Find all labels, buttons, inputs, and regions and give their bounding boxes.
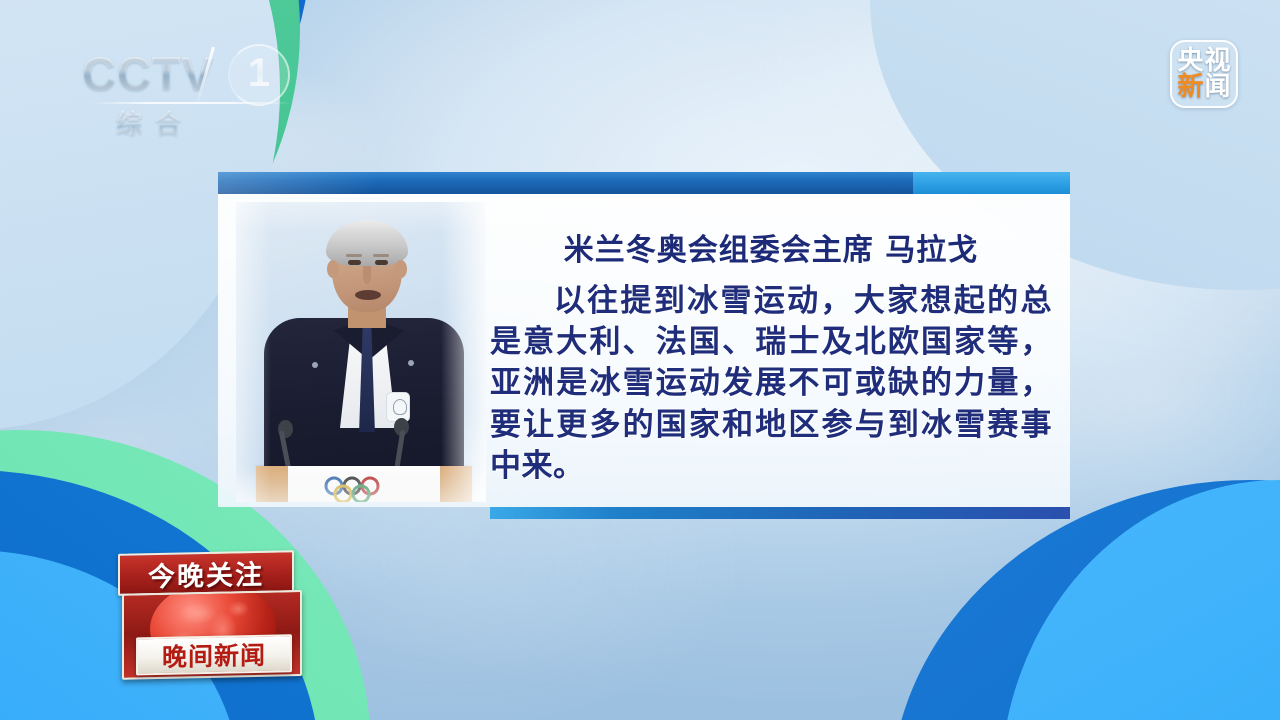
quote-text: 以往提到冰雪运动，大家想起的总是意大利、法国、瑞士及北欧国家等，亚洲是冰雪运动发… [490,281,1052,487]
program-badge-bottom-plate: 晚间新闻 [136,634,292,675]
channel-logo: CCTV 1 综合 [82,46,302,138]
cctv-news-badge-line-1: 央 视 [1177,48,1230,74]
cctv-news-badge-line-2: 新 闻 [1177,74,1230,100]
cctv-channel-subtitle: 综合 [116,104,194,141]
speaker-photo [236,202,486,502]
lower-third-panel: 米兰冬奥会组委会主席 马拉戈 以往提到冰雪运动，大家想起的总是意大利、法国、瑞士… [218,172,1070,529]
program-badge: 今晚关注 晚间新闻 [112,550,300,682]
cctv-news-char-shi: 视 [1205,48,1231,74]
cctv-channel-number-badge: 1 [228,44,290,106]
photo-edge-fade [236,202,486,502]
speaker-title: 米兰冬奥会组委会主席 马拉戈 [490,234,1052,267]
cctv-news-char-wen: 闻 [1205,74,1231,100]
program-badge-top-banner: 今晚关注 [118,550,294,596]
lower-third-text-column: 米兰冬奥会组委会主席 马拉戈 以往提到冰雪运动，大家想起的总是意大利、法国、瑞士… [490,234,1052,487]
panel-body: 米兰冬奥会组委会主席 马拉戈 以往提到冰雪运动，大家想起的总是意大利、法国、瑞士… [218,194,1070,507]
cctv-news-char-xin: 新 [1177,74,1203,100]
program-badge-bottom-label: 晚间新闻 [162,636,266,674]
program-badge-top-label: 今晚关注 [148,552,264,593]
cctv-news-badge: 央 视 新 闻 [1170,40,1238,108]
cctv-news-char-yang: 央 [1177,48,1203,74]
quote-body: 以往提到冰雪运动，大家想起的总是意大利、法国、瑞士及北欧国家等，亚洲是冰雪运动发… [490,283,1052,484]
cctv-wordmark: CCTV [82,50,214,97]
panel-top-accent-bar [218,172,1070,194]
broadcast-frame: CCTV 1 综合 央 视 新 闻 [0,0,1280,720]
cctv-channel-number: 1 [230,53,288,93]
panel-bottom-accent-bar [490,507,1070,519]
panel-top-bar-dark-segment [218,172,913,194]
panel-top-bar-light-segment [913,172,1070,194]
